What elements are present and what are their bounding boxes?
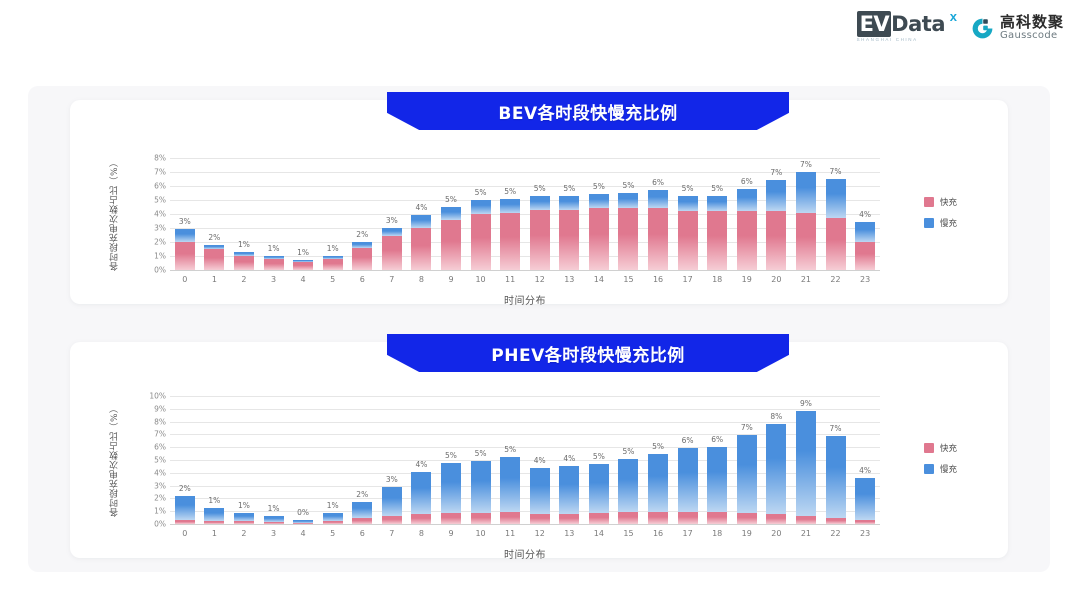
- bar-segment-slow-charge[interactable]: [737, 189, 757, 211]
- bar-segment-slow-charge[interactable]: [441, 207, 461, 220]
- gridline: [170, 270, 880, 271]
- page-header: EVData x SHANGHAI CHINA 高科数聚 Gausscode: [0, 0, 1080, 60]
- bar-column[interactable]: 4%: [525, 396, 555, 524]
- x-tick-label: 2: [229, 275, 259, 284]
- stacked-bar[interactable]: 5%: [618, 193, 638, 270]
- bar-value-label: 1%: [268, 504, 280, 513]
- bar-segment-fast-charge[interactable]: [411, 514, 431, 524]
- y-tick-label: 6%: [154, 443, 166, 452]
- stacked-bar[interactable]: 3%: [382, 228, 402, 270]
- legend-label: 慢充: [940, 463, 957, 475]
- bar-value-label: 0%: [297, 508, 309, 517]
- bar-column[interactable]: 7%: [762, 158, 792, 270]
- legend-label: 快充: [940, 442, 957, 454]
- bar-value-label: 7%: [830, 424, 842, 433]
- stacked-bar[interactable]: 1%: [293, 260, 313, 270]
- content-panel: BEV各时段快慢充比例 各时段充电次数占比（%）0%1%2%3%4%5%6%7%…: [28, 86, 1050, 572]
- bar-segment-fast-charge[interactable]: [234, 256, 254, 270]
- bar-column[interactable]: 0%: [288, 396, 318, 524]
- x-axis-title: 时间分布: [170, 292, 880, 307]
- bar-segment-fast-charge[interactable]: [471, 214, 491, 270]
- bar-value-label: 1%: [238, 501, 250, 510]
- stacked-bar[interactable]: 4%: [411, 472, 431, 524]
- stacked-bar[interactable]: 4%: [411, 215, 431, 270]
- bar-segment-slow-charge[interactable]: [352, 502, 372, 518]
- bar-segment-slow-charge[interactable]: [855, 478, 875, 520]
- evdata-logo: EVData x SHANGHAI CHINA: [857, 14, 957, 42]
- bar-series-container: 2%1%1%1%0%1%2%3%4%5%5%5%4%4%5%5%5%6%6%7%…: [170, 396, 880, 524]
- bar-column[interactable]: 5%: [525, 158, 555, 270]
- bar-segment-fast-charge[interactable]: [234, 521, 254, 524]
- bar-column[interactable]: 5%: [495, 158, 525, 270]
- x-tick-label: 12: [525, 275, 555, 284]
- bar-segment-fast-charge[interactable]: [766, 211, 786, 270]
- logo-group: EVData x SHANGHAI CHINA 高科数聚 Gausscode: [857, 14, 1064, 42]
- stacked-bar[interactable]: 2%: [352, 242, 372, 270]
- bar-segment-slow-charge[interactable]: [648, 454, 668, 512]
- bar-segment-fast-charge[interactable]: [707, 211, 727, 270]
- bar-segment-fast-charge[interactable]: [441, 513, 461, 524]
- bar-segment-fast-charge[interactable]: [293, 523, 313, 524]
- bar-value-label: 5%: [623, 447, 635, 456]
- bar-segment-slow-charge[interactable]: [826, 179, 846, 218]
- y-tick-label: 3%: [154, 224, 166, 233]
- bar-segment-fast-charge[interactable]: [323, 521, 343, 524]
- bar-segment-fast-charge[interactable]: [175, 242, 195, 270]
- bar-column[interactable]: 5%: [643, 396, 673, 524]
- bar-value-label: 1%: [327, 501, 339, 510]
- bar-segment-fast-charge[interactable]: [618, 208, 638, 270]
- plot-area-phev: 各时段充电次数占比（%）0%1%2%3%4%5%6%7%8%9%10%2%1%1…: [70, 342, 1008, 558]
- x-tick-label: 18: [702, 529, 732, 538]
- bar-value-label: 5%: [563, 184, 575, 193]
- y-tick-label: 0%: [154, 520, 166, 529]
- bar-segment-fast-charge[interactable]: [648, 208, 668, 270]
- bar-column[interactable]: 4%: [850, 158, 880, 270]
- bar-segment-fast-charge[interactable]: [382, 516, 402, 524]
- bar-column[interactable]: 1%: [288, 158, 318, 270]
- stacked-bar[interactable]: 3%: [175, 229, 195, 270]
- stacked-bar[interactable]: 1%: [234, 252, 254, 270]
- bar-value-label: 6%: [741, 177, 753, 186]
- bar-value-label: 6%: [652, 178, 664, 187]
- x-tick-label: 13: [555, 529, 585, 538]
- bar-column[interactable]: 5%: [436, 158, 466, 270]
- bar-segment-fast-charge[interactable]: [293, 262, 313, 270]
- bar-segment-fast-charge[interactable]: [737, 513, 757, 524]
- bar-segment-fast-charge[interactable]: [204, 249, 224, 270]
- plot-area-bev: 各时段充电次数占比（%）0%1%2%3%4%5%6%7%8%3%2%1%1%1%…: [70, 100, 1008, 304]
- bar-segment-slow-charge[interactable]: [559, 466, 579, 513]
- bar-segment-slow-charge[interactable]: [323, 513, 343, 521]
- stacked-bar[interactable]: 5%: [500, 199, 520, 270]
- chart-legend: 快充慢充: [924, 196, 957, 238]
- bar-segment-slow-charge[interactable]: [175, 496, 195, 520]
- bar-segment-slow-charge[interactable]: [530, 196, 550, 210]
- bar-segment-fast-charge[interactable]: [500, 512, 520, 524]
- bar-column[interactable]: 1%: [318, 158, 348, 270]
- stacked-bar[interactable]: 5%: [589, 464, 609, 524]
- x-axis-ticks: 01234567891011121314151617181920212223: [170, 529, 880, 538]
- stacked-bar[interactable]: 5%: [441, 463, 461, 524]
- bar-segment-fast-charge[interactable]: [471, 513, 491, 524]
- bar-segment-slow-charge[interactable]: [589, 194, 609, 208]
- y-tick-label: 4%: [154, 468, 166, 477]
- legend-label: 慢充: [940, 217, 957, 229]
- x-tick-label: 3: [259, 275, 289, 284]
- x-tick-label: 14: [584, 529, 614, 538]
- x-tick-label: 7: [377, 529, 407, 538]
- bar-column[interactable]: 2%: [347, 396, 377, 524]
- stacked-bar[interactable]: 8%: [766, 424, 786, 524]
- evdata-superscript-x: x: [950, 10, 957, 23]
- bar-segment-fast-charge[interactable]: [678, 512, 698, 524]
- stacked-bar[interactable]: 5%: [648, 454, 668, 524]
- y-tick-label: 5%: [154, 196, 166, 205]
- bar-segment-fast-charge[interactable]: [323, 259, 343, 270]
- stacked-bar[interactable]: 7%: [826, 179, 846, 270]
- bar-column[interactable]: 4%: [850, 396, 880, 524]
- bar-segment-fast-charge[interactable]: [441, 220, 461, 270]
- bar-value-label: 5%: [445, 195, 457, 204]
- bar-column[interactable]: 5%: [436, 396, 466, 524]
- bar-segment-fast-charge[interactable]: [737, 211, 757, 270]
- bar-column[interactable]: 1%: [318, 396, 348, 524]
- bar-segment-slow-charge[interactable]: [766, 424, 786, 515]
- stacked-bar[interactable]: 7%: [737, 435, 757, 524]
- bar-segment-slow-charge[interactable]: [175, 229, 195, 242]
- bar-segment-fast-charge[interactable]: [175, 520, 195, 524]
- bar-segment-slow-charge[interactable]: [204, 508, 224, 521]
- bar-segment-fast-charge[interactable]: [766, 514, 786, 524]
- x-axis-title: 时间分布: [170, 546, 880, 561]
- stacked-bar[interactable]: 4%: [855, 222, 875, 270]
- x-tick-label: 14: [584, 275, 614, 284]
- chart-card-bev: BEV各时段快慢充比例 各时段充电次数占比（%）0%1%2%3%4%5%6%7%…: [70, 100, 1008, 304]
- bar-column[interactable]: 5%: [584, 158, 614, 270]
- bar-segment-fast-charge[interactable]: [411, 228, 431, 270]
- bar-segment-slow-charge[interactable]: [707, 447, 727, 512]
- bar-segment-slow-charge[interactable]: [411, 472, 431, 514]
- bar-column[interactable]: 4%: [407, 158, 437, 270]
- y-tick-label: 4%: [154, 210, 166, 219]
- stacked-bar[interactable]: 5%: [471, 461, 491, 524]
- stacked-bar[interactable]: 5%: [678, 196, 698, 270]
- bar-segment-slow-charge[interactable]: [411, 215, 431, 228]
- bar-column[interactable]: 2%: [170, 396, 200, 524]
- bar-segment-slow-charge[interactable]: [618, 459, 638, 513]
- bar-segment-slow-charge[interactable]: [678, 196, 698, 211]
- stacked-bar[interactable]: 4%: [559, 466, 579, 524]
- gausscode-mark-icon: [971, 17, 994, 40]
- stacked-bar[interactable]: 5%: [559, 196, 579, 270]
- bar-segment-slow-charge[interactable]: [796, 411, 816, 516]
- bar-segment-fast-charge[interactable]: [796, 516, 816, 524]
- stacked-bar[interactable]: 1%: [323, 256, 343, 270]
- bar-segment-fast-charge[interactable]: [264, 522, 284, 524]
- bar-segment-fast-charge[interactable]: [707, 512, 727, 524]
- bar-segment-fast-charge[interactable]: [382, 236, 402, 270]
- stacked-bar[interactable]: 1%: [323, 513, 343, 524]
- bar-segment-fast-charge[interactable]: [589, 513, 609, 524]
- bar-column[interactable]: 5%: [584, 396, 614, 524]
- evdata-subtitle: SHANGHAI CHINA: [857, 37, 945, 42]
- bar-value-label: 4%: [859, 210, 871, 219]
- bar-segment-slow-charge[interactable]: [737, 435, 757, 513]
- x-tick-label: 8: [407, 529, 437, 538]
- stacked-bar[interactable]: 6%: [648, 190, 668, 270]
- stacked-bar[interactable]: 7%: [766, 180, 786, 270]
- bar-segment-slow-charge[interactable]: [559, 196, 579, 210]
- y-tick-label: 3%: [154, 481, 166, 490]
- bar-column[interactable]: 5%: [555, 158, 585, 270]
- x-tick-label: 1: [200, 275, 230, 284]
- stacked-bar[interactable]: 6%: [707, 447, 727, 524]
- stacked-bar[interactable]: 5%: [707, 196, 727, 270]
- bar-column[interactable]: 3%: [377, 158, 407, 270]
- x-tick-label: 21: [791, 529, 821, 538]
- bar-column[interactable]: 5%: [614, 158, 644, 270]
- bar-value-label: 3%: [386, 216, 398, 225]
- y-tick-label: 8%: [154, 154, 166, 163]
- y-axis-title: 各时段充电次数占比（%）: [108, 396, 121, 524]
- bar-column[interactable]: 7%: [821, 396, 851, 524]
- bar-value-label: 1%: [208, 496, 220, 505]
- stacked-bar[interactable]: 1%: [234, 513, 254, 524]
- stacked-bar[interactable]: 1%: [264, 516, 284, 524]
- bar-value-label: 5%: [593, 182, 605, 191]
- x-tick-label: 2: [229, 529, 259, 538]
- stacked-bar[interactable]: 4%: [530, 468, 550, 524]
- x-axis-ticks: 01234567891011121314151617181920212223: [170, 275, 880, 284]
- y-tick-label: 2%: [154, 238, 166, 247]
- stacked-bar[interactable]: 2%: [352, 502, 372, 524]
- bar-column[interactable]: 6%: [732, 158, 762, 270]
- bar-segment-fast-charge[interactable]: [648, 512, 668, 524]
- x-tick-label: 8: [407, 275, 437, 284]
- bar-value-label: 4%: [534, 456, 546, 465]
- bar-segment-fast-charge[interactable]: [589, 208, 609, 270]
- bar-column[interactable]: 5%: [673, 158, 703, 270]
- x-tick-label: 17: [673, 275, 703, 284]
- bar-value-label: 6%: [682, 436, 694, 445]
- x-tick-label: 0: [170, 275, 200, 284]
- x-tick-label: 19: [732, 275, 762, 284]
- bar-segment-fast-charge[interactable]: [559, 210, 579, 270]
- bar-column[interactable]: 4%: [555, 396, 585, 524]
- stacked-bar[interactable]: 4%: [855, 478, 875, 524]
- bar-segment-fast-charge[interactable]: [352, 518, 372, 524]
- bar-segment-fast-charge[interactable]: [826, 218, 846, 270]
- bar-value-label: 5%: [623, 181, 635, 190]
- stacked-bar[interactable]: 5%: [530, 196, 550, 270]
- x-tick-label: 6: [347, 529, 377, 538]
- bar-column[interactable]: 2%: [200, 158, 230, 270]
- x-tick-label: 11: [495, 529, 525, 538]
- bar-column[interactable]: 6%: [673, 396, 703, 524]
- bar-value-label: 1%: [238, 240, 250, 249]
- stacked-bar[interactable]: 2%: [175, 496, 195, 524]
- bar-value-label: 2%: [356, 490, 368, 499]
- bar-value-label: 5%: [711, 184, 723, 193]
- bar-segment-fast-charge[interactable]: [264, 259, 284, 270]
- stacked-bar[interactable]: 7%: [826, 436, 846, 524]
- bar-segment-fast-charge[interactable]: [530, 514, 550, 524]
- bar-segment-fast-charge[interactable]: [352, 248, 372, 270]
- x-tick-label: 3: [259, 529, 289, 538]
- bar-column[interactable]: 1%: [229, 158, 259, 270]
- bar-value-label: 5%: [475, 188, 487, 197]
- evdata-ev-text: EV: [857, 11, 892, 37]
- stacked-bar[interactable]: 5%: [441, 207, 461, 270]
- bar-column[interactable]: 1%: [259, 396, 289, 524]
- bar-column[interactable]: 5%: [466, 158, 496, 270]
- legend-item[interactable]: 快充: [924, 442, 957, 454]
- x-tick-label: 22: [821, 529, 851, 538]
- bar-segment-slow-charge[interactable]: [382, 228, 402, 236]
- chart-title-banner-bev: BEV各时段快慢充比例: [387, 92, 789, 130]
- bar-segment-slow-charge[interactable]: [826, 436, 846, 518]
- x-tick-label: 16: [643, 275, 673, 284]
- bar-value-label: 2%: [356, 230, 368, 239]
- bar-segment-fast-charge[interactable]: [855, 242, 875, 270]
- bar-segment-slow-charge[interactable]: [796, 172, 816, 213]
- x-tick-label: 15: [614, 275, 644, 284]
- bar-segment-slow-charge[interactable]: [471, 461, 491, 513]
- x-tick-label: 23: [850, 529, 880, 538]
- bar-segment-slow-charge[interactable]: [648, 190, 668, 208]
- legend-item[interactable]: 慢充: [924, 217, 957, 229]
- y-axis-ticks: 0%1%2%3%4%5%6%7%8%9%10%: [140, 396, 166, 524]
- x-tick-label: 16: [643, 529, 673, 538]
- bar-segment-fast-charge[interactable]: [559, 514, 579, 524]
- bar-segment-slow-charge[interactable]: [530, 468, 550, 514]
- bar-value-label: 7%: [741, 423, 753, 432]
- bar-column[interactable]: 9%: [791, 396, 821, 524]
- evdata-data-text: Data: [891, 12, 945, 36]
- bar-segment-slow-charge[interactable]: [500, 199, 520, 213]
- stacked-bar[interactable]: 0%: [293, 520, 313, 524]
- chart-title-banner-phev: PHEV各时段快慢充比例: [387, 334, 789, 372]
- chart-legend: 快充慢充: [924, 442, 957, 484]
- bar-column[interactable]: 3%: [377, 396, 407, 524]
- bar-segment-slow-charge[interactable]: [382, 487, 402, 516]
- x-tick-label: 20: [762, 529, 792, 538]
- stacked-bar[interactable]: 1%: [204, 508, 224, 524]
- gridline: [170, 524, 880, 525]
- gausscode-cn-name: 高科数聚: [1000, 15, 1064, 31]
- x-tick-label: 17: [673, 529, 703, 538]
- bar-segment-fast-charge[interactable]: [618, 512, 638, 524]
- bar-value-label: 5%: [652, 442, 664, 451]
- bar-column[interactable]: 6%: [702, 396, 732, 524]
- x-tick-label: 20: [762, 275, 792, 284]
- bar-segment-fast-charge[interactable]: [204, 521, 224, 524]
- legend-item[interactable]: 慢充: [924, 463, 957, 475]
- stacked-bar[interactable]: 3%: [382, 487, 402, 524]
- chart-block-phev: PHEV各时段快慢充比例 各时段充电次数占比（%）0%1%2%3%4%5%6%7…: [28, 328, 1050, 572]
- bar-segment-slow-charge[interactable]: [618, 193, 638, 208]
- bar-column[interactable]: 7%: [821, 158, 851, 270]
- y-tick-label: 1%: [154, 252, 166, 261]
- bar-segment-slow-charge[interactable]: [707, 196, 727, 211]
- bar-column[interactable]: 3%: [170, 158, 200, 270]
- bar-value-label: 7%: [800, 160, 812, 169]
- legend-swatch-icon: [924, 443, 934, 453]
- stacked-bar[interactable]: 6%: [737, 189, 757, 270]
- bar-segment-slow-charge[interactable]: [234, 513, 254, 521]
- bar-column[interactable]: 8%: [762, 396, 792, 524]
- y-axis-title: 各时段充电次数占比（%）: [108, 158, 121, 270]
- legend-swatch-icon: [924, 197, 934, 207]
- bar-column[interactable]: 4%: [407, 396, 437, 524]
- bar-segment-fast-charge[interactable]: [796, 213, 816, 270]
- bar-column[interactable]: 2%: [347, 158, 377, 270]
- legend-item[interactable]: 快充: [924, 196, 957, 208]
- stacked-bar[interactable]: 6%: [678, 448, 698, 524]
- stacked-bar[interactable]: 1%: [264, 256, 284, 270]
- bar-segment-slow-charge[interactable]: [441, 463, 461, 513]
- bar-segment-fast-charge[interactable]: [500, 213, 520, 270]
- bar-column[interactable]: 5%: [702, 158, 732, 270]
- stacked-bar[interactable]: 5%: [471, 200, 491, 270]
- bar-value-label: 5%: [682, 184, 694, 193]
- bar-column[interactable]: 1%: [229, 396, 259, 524]
- stacked-bar[interactable]: 2%: [204, 245, 224, 270]
- bar-column[interactable]: 5%: [614, 396, 644, 524]
- bar-segment-fast-charge[interactable]: [855, 520, 875, 524]
- bar-value-label: 5%: [504, 445, 516, 454]
- y-tick-label: 8%: [154, 417, 166, 426]
- x-tick-label: 10: [466, 275, 496, 284]
- y-tick-label: 7%: [154, 168, 166, 177]
- bar-value-label: 3%: [179, 217, 191, 226]
- bar-column[interactable]: 7%: [791, 158, 821, 270]
- bar-column[interactable]: 6%: [643, 158, 673, 270]
- x-tick-label: 22: [821, 275, 851, 284]
- stacked-bar[interactable]: 9%: [796, 411, 816, 524]
- evdata-wordmark: EVData: [857, 14, 945, 35]
- legend-swatch-icon: [924, 464, 934, 474]
- bar-value-label: 8%: [770, 412, 782, 421]
- bar-column[interactable]: 5%: [466, 396, 496, 524]
- stacked-bar[interactable]: 5%: [618, 459, 638, 524]
- bar-column[interactable]: 7%: [732, 396, 762, 524]
- bar-value-label: 5%: [534, 184, 546, 193]
- bar-segment-slow-charge[interactable]: [678, 448, 698, 512]
- bar-value-label: 7%: [830, 167, 842, 176]
- x-tick-label: 5: [318, 275, 348, 284]
- bar-segment-slow-charge[interactable]: [500, 457, 520, 512]
- bar-segment-slow-charge[interactable]: [855, 222, 875, 242]
- y-tick-label: 0%: [154, 266, 166, 275]
- bar-segment-fast-charge[interactable]: [678, 211, 698, 270]
- y-tick-label: 7%: [154, 430, 166, 439]
- bar-segment-slow-charge[interactable]: [766, 180, 786, 211]
- bar-value-label: 4%: [415, 460, 427, 469]
- bar-column[interactable]: 1%: [259, 158, 289, 270]
- bar-column[interactable]: 1%: [200, 396, 230, 524]
- bar-segment-fast-charge[interactable]: [530, 210, 550, 270]
- bar-segment-slow-charge[interactable]: [471, 200, 491, 214]
- bar-segment-slow-charge[interactable]: [589, 464, 609, 513]
- stacked-bar[interactable]: 5%: [500, 457, 520, 524]
- stacked-bar[interactable]: 7%: [796, 172, 816, 270]
- bar-column[interactable]: 5%: [495, 396, 525, 524]
- bar-segment-fast-charge[interactable]: [826, 518, 846, 524]
- x-tick-label: 15: [614, 529, 644, 538]
- stacked-bar[interactable]: 5%: [589, 194, 609, 270]
